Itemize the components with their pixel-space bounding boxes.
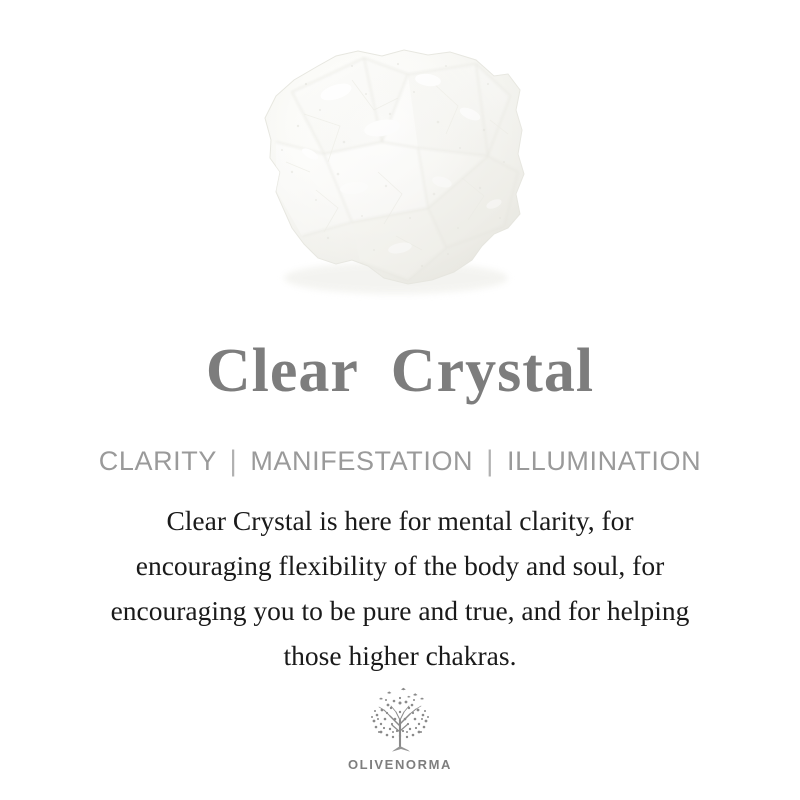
keyword-separator-1: |: [225, 443, 243, 479]
page-title: Clear Crystal: [0, 336, 800, 406]
product-info-card: Clear Crystal CLARITY | MANIFESTATION | …: [0, 0, 800, 800]
keyword-clarity: CLARITY: [99, 446, 217, 476]
brand-logo: OLIVENORMA: [0, 686, 800, 772]
brand-wordmark: OLIVENORMA: [0, 757, 800, 772]
keyword-manifestation: MANIFESTATION: [250, 446, 473, 476]
tree-of-life-icon: [357, 686, 443, 754]
product-description: Clear Crystal is here for mental clarity…: [40, 498, 760, 678]
description-line: those higher chakras.: [40, 633, 760, 678]
keyword-separator-2: |: [481, 443, 499, 479]
crystal-stone-icon: [232, 22, 552, 312]
keyword-line: CLARITY | MANIFESTATION | ILLUMINATION: [0, 444, 800, 478]
keyword-illumination: ILLUMINATION: [507, 446, 701, 476]
description-line: encouraging flexibility of the body and …: [40, 543, 760, 588]
description-line: Clear Crystal is here for mental clarity…: [40, 498, 760, 543]
product-image-area: [0, 0, 800, 320]
description-line: encouraging you to be pure and true, and…: [40, 588, 760, 633]
